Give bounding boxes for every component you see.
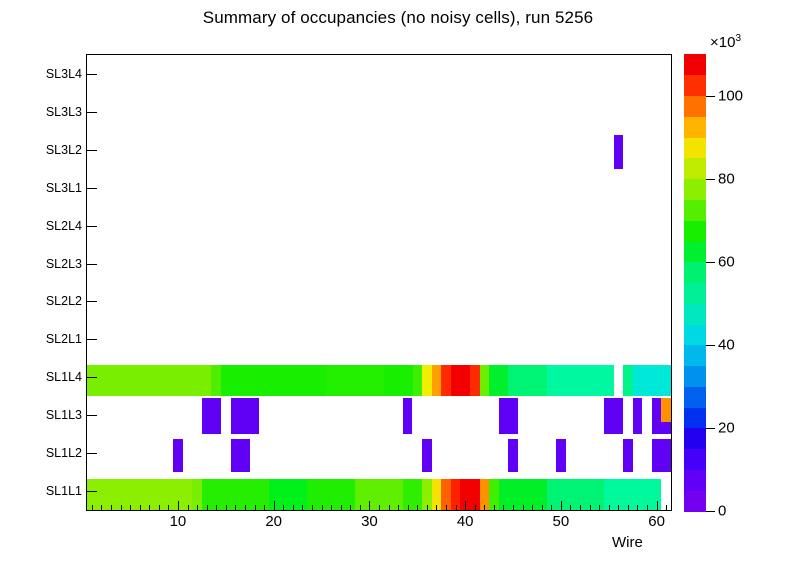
x-axis-minor-tick	[188, 505, 189, 511]
heatmap-cell	[87, 365, 211, 396]
x-axis-tick-label: 10	[170, 513, 187, 530]
heatmap-spike-cell	[652, 439, 662, 472]
y-axis-label-sl3l3: SL3L3	[0, 105, 82, 119]
x-axis-minor-tick	[101, 505, 102, 511]
x-axis-minor-tick	[618, 505, 619, 511]
palette-tick	[706, 179, 715, 180]
y-axis-label-sl1l4: SL1L4	[0, 370, 82, 384]
x-axis-minor-tick	[226, 505, 227, 511]
y-axis-tick	[86, 453, 97, 454]
palette-exponent-power: 3	[735, 33, 741, 44]
y-axis-tick	[86, 339, 97, 340]
x-axis-minor-tick	[140, 505, 141, 511]
x-axis-minor-tick	[417, 505, 418, 511]
x-axis-minor-tick	[647, 505, 648, 511]
x-axis-tick-label: 30	[361, 513, 378, 530]
heatmap-cell	[413, 365, 423, 396]
heatmap-cell	[211, 365, 221, 396]
heatmap-cell	[508, 365, 546, 396]
x-axis-tick-label: 20	[265, 513, 282, 530]
x-axis-minor-tick	[637, 505, 638, 511]
palette-tick-label: 20	[718, 419, 735, 436]
palette-tick-label: 60	[718, 253, 735, 270]
x-axis-minor-tick	[216, 505, 217, 511]
y-axis-tick	[86, 188, 97, 189]
heatmap-spike-cell	[633, 398, 643, 434]
palette-exponent-base: ×10	[710, 34, 735, 51]
x-axis-title: Wire	[612, 534, 643, 551]
palette-tick-label: 100	[718, 87, 743, 104]
x-axis-major-tick	[178, 501, 179, 511]
y-axis-label-sl2l4: SL2L4	[0, 219, 82, 233]
x-axis-minor-tick	[580, 505, 581, 511]
heatmap-spike-cell	[499, 398, 518, 434]
y-axis-tick	[86, 491, 97, 492]
x-axis-minor-tick	[331, 505, 332, 511]
heatmap-cell	[623, 365, 633, 396]
heatmap-plot-area[interactable]	[87, 55, 671, 510]
heatmap-cell	[480, 365, 490, 396]
heatmap-spike-cell	[508, 439, 518, 472]
y-axis-label-sl1l1: SL1L1	[0, 484, 82, 498]
x-axis-minor-tick	[503, 505, 504, 511]
heatmap-spike-cell	[422, 439, 432, 472]
x-axis-minor-tick	[255, 505, 256, 511]
heatmap-cell	[221, 365, 326, 396]
x-axis-minor-tick	[379, 505, 380, 511]
x-axis-minor-tick	[532, 505, 533, 511]
x-axis-minor-tick	[398, 505, 399, 511]
x-axis-minor-tick	[350, 505, 351, 511]
x-axis-minor-tick	[293, 505, 294, 511]
palette-tick	[706, 428, 715, 429]
palette-tick	[706, 345, 715, 346]
x-axis-tick-label: 60	[648, 513, 665, 530]
x-axis-minor-tick	[427, 505, 428, 511]
palette-tick	[706, 96, 715, 97]
x-axis-minor-tick	[513, 505, 514, 511]
heatmap-spike-cell	[614, 135, 624, 168]
heatmap-cell	[451, 365, 461, 396]
y-axis-tick	[86, 150, 97, 151]
heatmap-spike-cell-high	[661, 398, 671, 422]
x-axis-major-tick	[274, 501, 275, 511]
x-axis-minor-tick	[168, 505, 169, 511]
x-axis-minor-tick	[159, 505, 160, 511]
x-axis-minor-tick	[523, 505, 524, 511]
heatmap-spike-cell	[556, 439, 566, 472]
heatmap-cell	[470, 365, 480, 396]
x-axis-minor-tick	[312, 505, 313, 511]
palette-exponent-label: ×103	[710, 33, 741, 51]
y-axis-tick	[86, 74, 97, 75]
x-axis-minor-tick	[446, 505, 447, 511]
x-axis-minor-tick	[599, 505, 600, 511]
x-axis-major-tick	[657, 501, 658, 511]
x-axis-minor-tick	[484, 505, 485, 511]
x-axis-minor-tick	[207, 505, 208, 511]
y-axis-tick	[86, 226, 97, 227]
root-canvas: Summary of occupancies (no noisy cells),…	[0, 0, 796, 572]
color-palette-frame	[684, 54, 706, 511]
heatmap-spike-cell	[623, 439, 633, 472]
heatmap-spike-cell	[231, 398, 241, 434]
x-axis-minor-tick	[475, 505, 476, 511]
x-axis-minor-tick	[283, 505, 284, 511]
x-axis-minor-tick	[628, 505, 629, 511]
x-axis-minor-tick	[130, 505, 131, 511]
x-axis-major-tick	[465, 501, 466, 511]
heatmap-spike-cell	[661, 439, 671, 472]
heatmap-spike-cell	[604, 398, 623, 434]
x-axis-minor-tick	[542, 505, 543, 511]
heatmap-cell	[384, 365, 413, 396]
x-axis-minor-tick	[551, 505, 552, 511]
x-axis-minor-tick	[341, 505, 342, 511]
y-axis-tick	[86, 301, 97, 302]
x-axis-minor-tick	[436, 505, 437, 511]
heatmap-cell	[489, 365, 508, 396]
heatmap-cell	[633, 365, 671, 396]
y-axis-tick	[86, 377, 97, 378]
y-axis-label-sl3l2: SL3L2	[0, 143, 82, 157]
x-axis-minor-tick	[235, 505, 236, 511]
heatmap-cell	[403, 479, 422, 510]
x-axis-minor-tick	[302, 505, 303, 511]
x-axis-minor-tick	[666, 505, 667, 511]
x-axis-minor-tick	[92, 505, 93, 511]
y-axis-label-sl1l3: SL1L3	[0, 408, 82, 422]
heatmap-spike-cell	[231, 439, 250, 472]
x-axis-minor-tick	[570, 505, 571, 511]
page-title: Summary of occupancies (no noisy cells),…	[0, 8, 796, 28]
y-axis-label-sl1l2: SL1L2	[0, 446, 82, 460]
y-axis-tick	[86, 112, 97, 113]
heatmap-cell	[547, 479, 604, 510]
y-axis-label-sl3l4: SL3L4	[0, 67, 82, 81]
x-axis-minor-tick	[408, 505, 409, 511]
heatmap-spike-cell	[173, 439, 183, 472]
x-axis-minor-tick	[609, 505, 610, 511]
x-axis-minor-tick	[245, 505, 246, 511]
heatmap-cell	[547, 365, 614, 396]
heatmap-cell	[460, 365, 470, 396]
x-axis-tick-label: 50	[553, 513, 570, 530]
palette-tick	[706, 511, 715, 512]
y-axis-label-sl2l2: SL2L2	[0, 294, 82, 308]
y-axis-label-sl2l3: SL2L3	[0, 257, 82, 271]
heatmap-cell	[604, 479, 661, 510]
heatmap-cell	[460, 479, 479, 510]
x-axis-minor-tick	[590, 505, 591, 511]
y-axis-tick	[86, 264, 97, 265]
palette-tick	[706, 262, 715, 263]
x-axis-minor-tick	[456, 505, 457, 511]
x-axis-major-tick	[561, 501, 562, 511]
heatmap-cell	[422, 365, 432, 396]
x-axis-minor-tick	[121, 505, 122, 511]
heatmap-spike-cell	[403, 398, 413, 434]
x-axis-minor-tick	[197, 505, 198, 511]
heatmap-cell	[432, 365, 442, 396]
heatmap-cell	[441, 365, 451, 396]
heatmap-cell	[326, 365, 383, 396]
x-axis-minor-tick	[389, 505, 390, 511]
x-axis-minor-tick	[264, 505, 265, 511]
x-axis-minor-tick	[322, 505, 323, 511]
y-axis-label-sl2l1: SL2L1	[0, 332, 82, 346]
y-axis-tick	[86, 415, 97, 416]
heatmap-spike-cell	[240, 398, 259, 434]
palette-tick-label: 80	[718, 170, 735, 187]
palette-tick-label: 0	[718, 503, 726, 520]
x-axis-minor-tick	[149, 505, 150, 511]
x-axis-minor-tick	[360, 505, 361, 511]
y-axis-label-sl3l1: SL3L1	[0, 181, 82, 195]
x-axis-major-tick	[369, 501, 370, 511]
heatmap-spike-cell	[202, 398, 221, 434]
x-axis-minor-tick	[494, 505, 495, 511]
x-axis-tick-label: 40	[457, 513, 474, 530]
palette-tick-label: 40	[718, 336, 735, 353]
x-axis-minor-tick	[111, 505, 112, 511]
